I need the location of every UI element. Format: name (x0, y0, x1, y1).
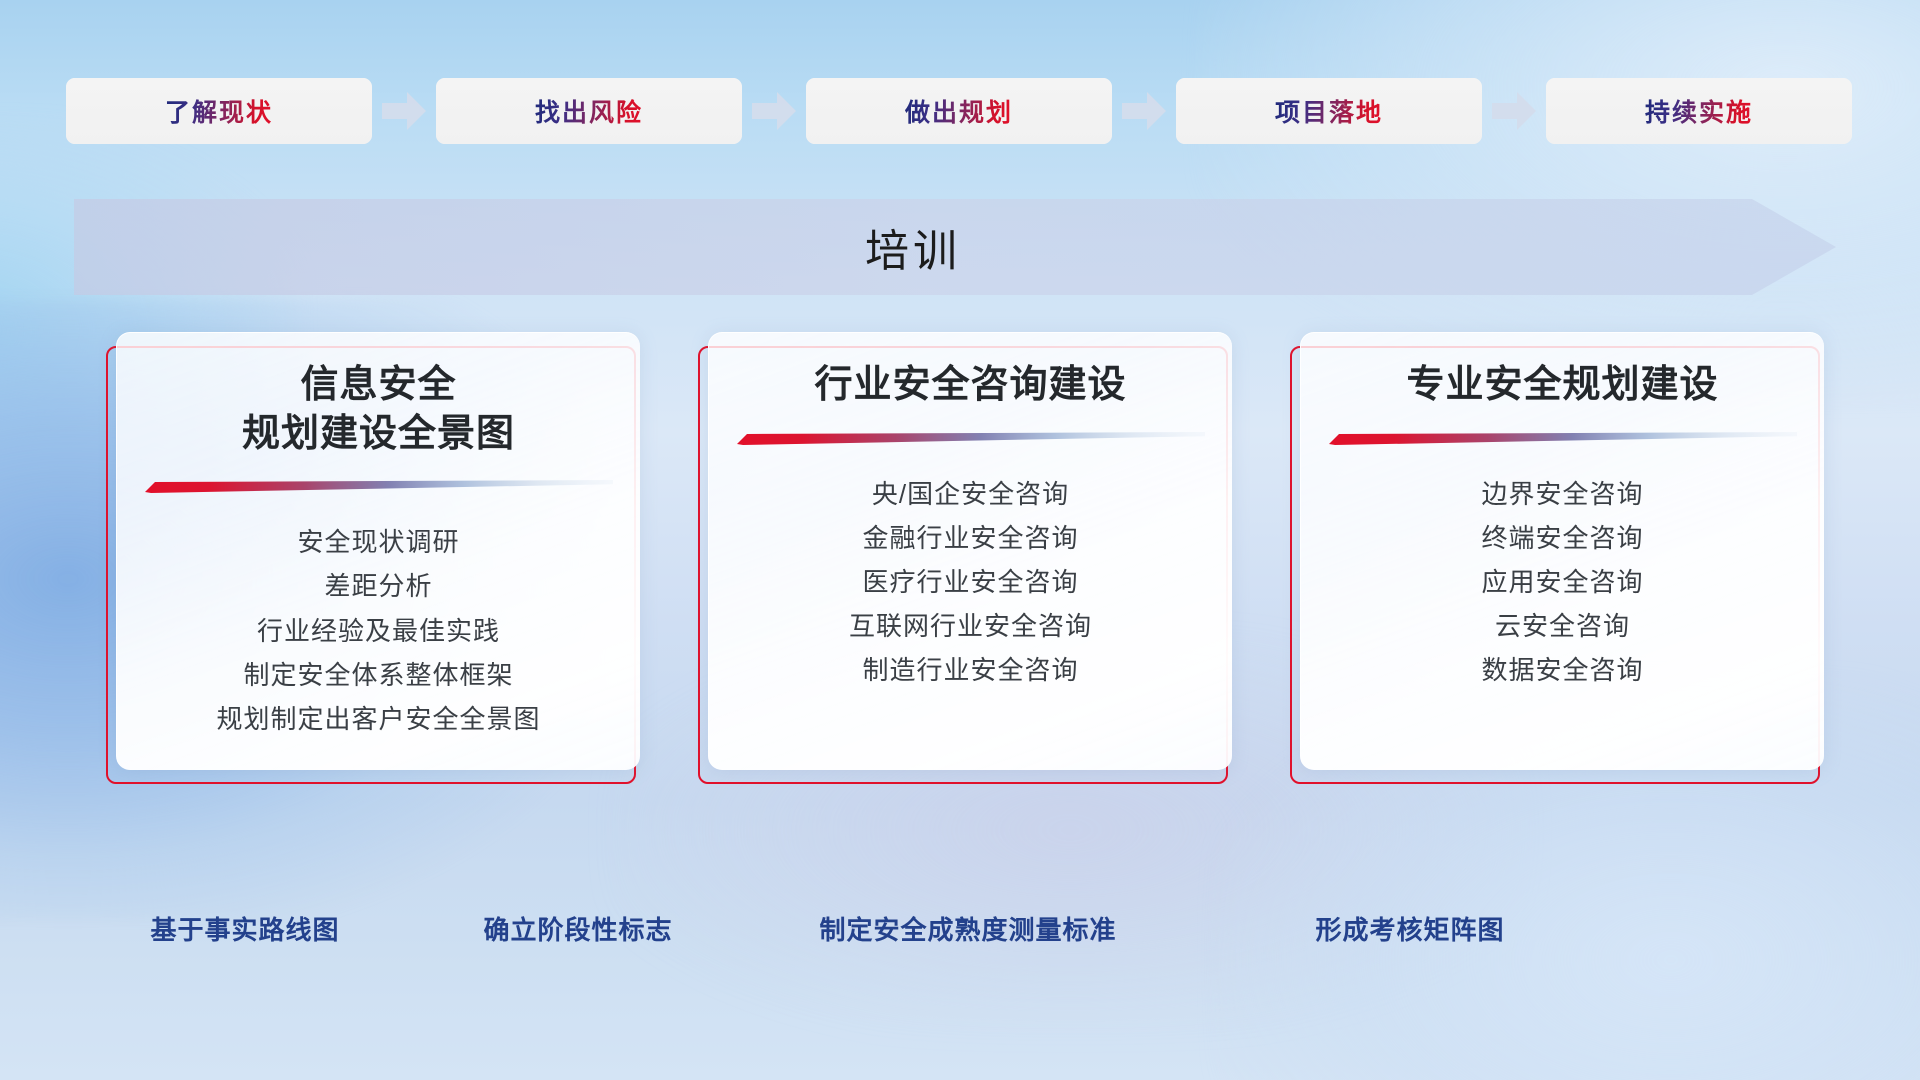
card-list-item[interactable]: 制造行业安全咨询 (862, 655, 1078, 686)
process-step-surface: 找出风险 (436, 78, 742, 144)
card-title: 专业安全规划建设 (1406, 361, 1718, 410)
card-body: 专业安全规划建设边界安全咨询终端安全咨询应用安全咨询云安全咨询数据安全咨询 (1300, 332, 1824, 770)
footer-label-2: 确立阶段性标志 (483, 910, 672, 947)
service-card-1[interactable]: 信息安全 规划建设全景图安全现状调研差距分析行业经验及最佳实践制定安全体系整体框… (106, 332, 636, 784)
card-body: 行业安全咨询建设央/国企安全咨询金融行业安全咨询医疗行业安全咨询互联网行业安全咨… (708, 332, 1232, 770)
card-list-item[interactable]: 差距分析 (324, 571, 432, 602)
process-step-surface: 做出规划 (806, 78, 1112, 144)
card-body: 信息安全 规划建设全景图安全现状调研差距分析行业经验及最佳实践制定安全体系整体框… (116, 332, 640, 770)
service-card-2[interactable]: 行业安全咨询建设央/国企安全咨询金融行业安全咨询医疗行业安全咨询互联网行业安全咨… (698, 332, 1228, 784)
card-list-item[interactable]: 金融行业安全咨询 (862, 523, 1078, 554)
card-divider-line (1329, 432, 1797, 445)
process-step-row: 了解现状找出风险做出规划项目落地持续实施 (66, 78, 1854, 144)
process-step-3[interactable]: 做出规划 (806, 78, 1112, 144)
card-list-item[interactable]: 应用安全咨询 (1481, 567, 1643, 598)
slide-canvas: 了解现状找出风险做出规划项目落地持续实施 培训 信息安全 规划建设全景图安全现状… (0, 0, 1920, 1080)
footer-label-row: 基于事实路线图确立阶段性标志制定安全成熟度测量标准形成考核矩阵图 (0, 910, 1920, 958)
footer-label-4: 形成考核矩阵图 (1315, 910, 1504, 947)
card-title: 信息安全 规划建设全景图 (242, 361, 515, 458)
training-banner: 培训 (74, 199, 1836, 295)
card-item-list: 边界安全咨询终端安全咨询应用安全咨询云安全咨询数据安全咨询 (1481, 479, 1643, 687)
card-title: 行业安全咨询建设 (814, 361, 1126, 410)
process-step-label: 找出风险 (535, 93, 643, 129)
card-divider-line (145, 480, 613, 493)
process-step-1[interactable]: 了解现状 (66, 78, 372, 144)
card-list-item[interactable]: 安全现状调研 (297, 527, 459, 558)
footer-label-3: 制定安全成熟度测量标准 (819, 910, 1116, 947)
process-step-label: 做出规划 (905, 93, 1013, 129)
process-step-surface: 项目落地 (1176, 78, 1482, 144)
step-arrow-icon (1112, 88, 1176, 134)
step-arrow-icon (742, 88, 806, 134)
process-step-surface: 了解现状 (66, 78, 372, 144)
card-list-item[interactable]: 边界安全咨询 (1481, 479, 1643, 510)
process-step-4[interactable]: 项目落地 (1176, 78, 1482, 144)
process-step-5[interactable]: 持续实施 (1546, 78, 1852, 144)
card-list-item[interactable]: 数据安全咨询 (1481, 655, 1643, 686)
card-list-item[interactable]: 央/国企安全咨询 (872, 479, 1069, 510)
card-list-item[interactable]: 行业经验及最佳实践 (257, 616, 500, 647)
card-list-item[interactable]: 医疗行业安全咨询 (862, 567, 1078, 598)
card-list-item[interactable]: 互联网行业安全咨询 (849, 611, 1092, 642)
process-step-surface: 持续实施 (1546, 78, 1852, 144)
service-card-3[interactable]: 专业安全规划建设边界安全咨询终端安全咨询应用安全咨询云安全咨询数据安全咨询 (1290, 332, 1820, 784)
card-list-item[interactable]: 云安全咨询 (1495, 611, 1630, 642)
card-list-item[interactable]: 终端安全咨询 (1481, 523, 1643, 554)
card-item-list: 安全现状调研差距分析行业经验及最佳实践制定安全体系整体框架规划制定出客户安全全景… (216, 527, 540, 735)
process-step-label: 项目落地 (1275, 93, 1383, 129)
card-row: 信息安全 规划建设全景图安全现状调研差距分析行业经验及最佳实践制定安全体系整体框… (106, 332, 1820, 784)
card-item-list: 央/国企安全咨询金融行业安全咨询医疗行业安全咨询互联网行业安全咨询制造行业安全咨… (849, 479, 1092, 687)
banner-title: 培训 (74, 199, 1752, 295)
process-step-2[interactable]: 找出风险 (436, 78, 742, 144)
process-step-label: 了解现状 (165, 93, 273, 129)
step-arrow-icon (372, 88, 436, 134)
step-arrow-icon (1482, 88, 1546, 134)
card-list-item[interactable]: 制定安全体系整体框架 (243, 660, 513, 691)
process-step-label: 持续实施 (1645, 93, 1753, 129)
card-list-item[interactable]: 规划制定出客户安全全景图 (216, 704, 540, 735)
card-divider-line (737, 432, 1205, 445)
footer-label-1: 基于事实路线图 (150, 910, 339, 947)
